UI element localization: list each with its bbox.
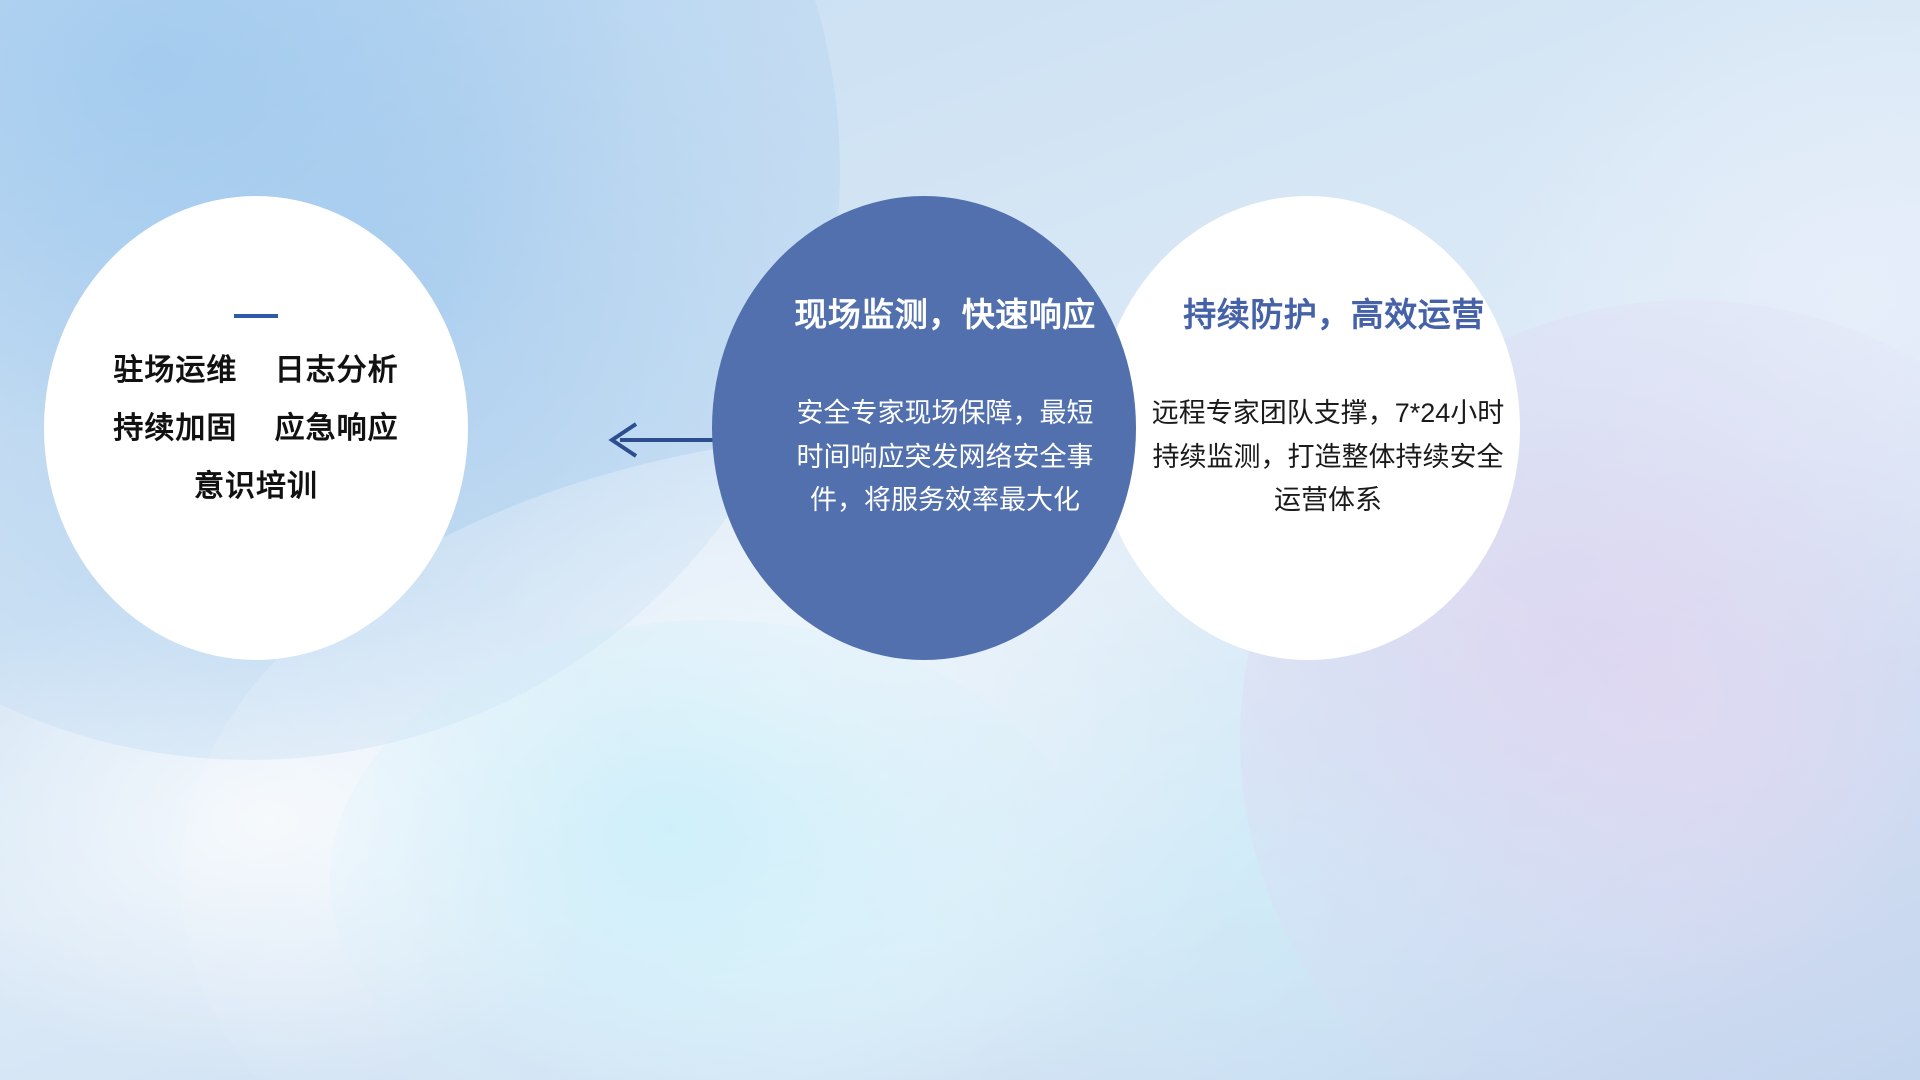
right-circle-continuous-protection: 持续防护，高效运营 远程专家团队支撑，7*24小时持续监测，打造整体持续安全运营… bbox=[1096, 196, 1520, 660]
capability-line-3: 意识培训 bbox=[194, 472, 318, 502]
capability-line-2: 持续加固 应急响应 bbox=[113, 414, 398, 444]
capability-line-1: 驻场运维 日志分析 bbox=[113, 356, 398, 386]
middle-circle-body: 安全专家现场保障，最短时间响应突发网络安全事件，将服务效率最大化 bbox=[790, 392, 1100, 523]
right-circle-body: 远程专家团队支撑，7*24小时持续监测，打造整体持续安全运营体系 bbox=[1148, 392, 1508, 523]
divider-dash bbox=[234, 314, 278, 318]
left-circle-capability-list: 驻场运维 日志分析 持续加固 应急响应 意识培训 bbox=[44, 196, 468, 660]
middle-circle-title: 现场监测，快速响应 bbox=[794, 288, 1096, 336]
right-circle-title: 持续防护，高效运营 bbox=[1183, 288, 1485, 336]
middle-circle-onsite-monitoring: 现场监测，快速响应 安全专家现场保障，最短时间响应突发网络安全事件，将服务效率最… bbox=[712, 196, 1136, 660]
